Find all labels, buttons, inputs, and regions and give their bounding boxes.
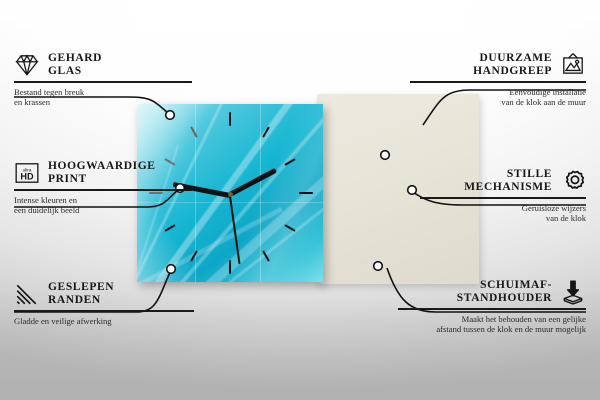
feature-subtitle: Maakt het behouden van een gelijke afsta…: [398, 314, 586, 335]
feature-subtitle: Gladde en veilige afwerking: [14, 316, 194, 326]
diagonal-lines-icon: [14, 281, 40, 307]
svg-text:HD: HD: [20, 172, 34, 182]
feature-subtitle: Intense kleuren en een duidelijk beeld: [14, 195, 192, 216]
clock-center-hub: [228, 192, 233, 197]
gear-icon: [560, 168, 586, 194]
feature-geslepen-randen: GESLEPEN RANDEN Gladde en veilige afwerk…: [14, 281, 194, 326]
feature-title: SCHUIMAF- STANDHOUDER: [457, 279, 552, 305]
ultra-hd-icon: ultra HD: [14, 160, 40, 186]
hanging-picture-icon: [560, 52, 586, 78]
feature-subtitle: Geruisloze wijzers van de klok: [420, 203, 586, 224]
infographic-canvas: GEHARD GLAS Bestand tegen breuk en krass…: [0, 0, 600, 400]
feature-schuimaf-standhouder: SCHUIMAF- STANDHOUDER Maakt het behouden…: [398, 279, 586, 334]
feature-duurzame-handgreep: DUURZAME HANDGREEP Eenvoudige installati…: [410, 52, 586, 107]
feature-title: STILLE MECHANISME: [464, 168, 552, 194]
divider: [14, 81, 192, 83]
divider: [398, 308, 586, 310]
feature-subtitle: Eenvoudige installatie van de klok aan d…: [410, 87, 586, 108]
arrow-down-spacer-icon: [560, 279, 586, 305]
feature-title: GEHARD GLAS: [48, 52, 102, 78]
divider: [410, 81, 586, 83]
divider: [420, 197, 586, 199]
divider: [14, 189, 192, 191]
divider: [14, 310, 194, 312]
feature-title: DUURZAME HANDGREEP: [473, 52, 552, 78]
clock-tick: [229, 260, 231, 274]
feature-hoogwaardige-print: ultra HD HOOGWAARDIGE PRINT Intense kleu…: [14, 160, 192, 215]
feature-stille-mechanisme: STILLE MECHANISME Geruisloze wijzers van…: [420, 168, 586, 223]
diamond-icon: [14, 52, 40, 78]
feature-subtitle: Bestand tegen breuk en krassen: [14, 87, 192, 108]
feature-title: HOOGWAARDIGE PRINT: [48, 160, 156, 186]
clock-tick: [299, 192, 313, 194]
clock-tick: [229, 112, 231, 126]
feature-gehard-glas: GEHARD GLAS Bestand tegen breuk en krass…: [14, 52, 192, 107]
feature-title: GESLEPEN RANDEN: [48, 281, 114, 307]
